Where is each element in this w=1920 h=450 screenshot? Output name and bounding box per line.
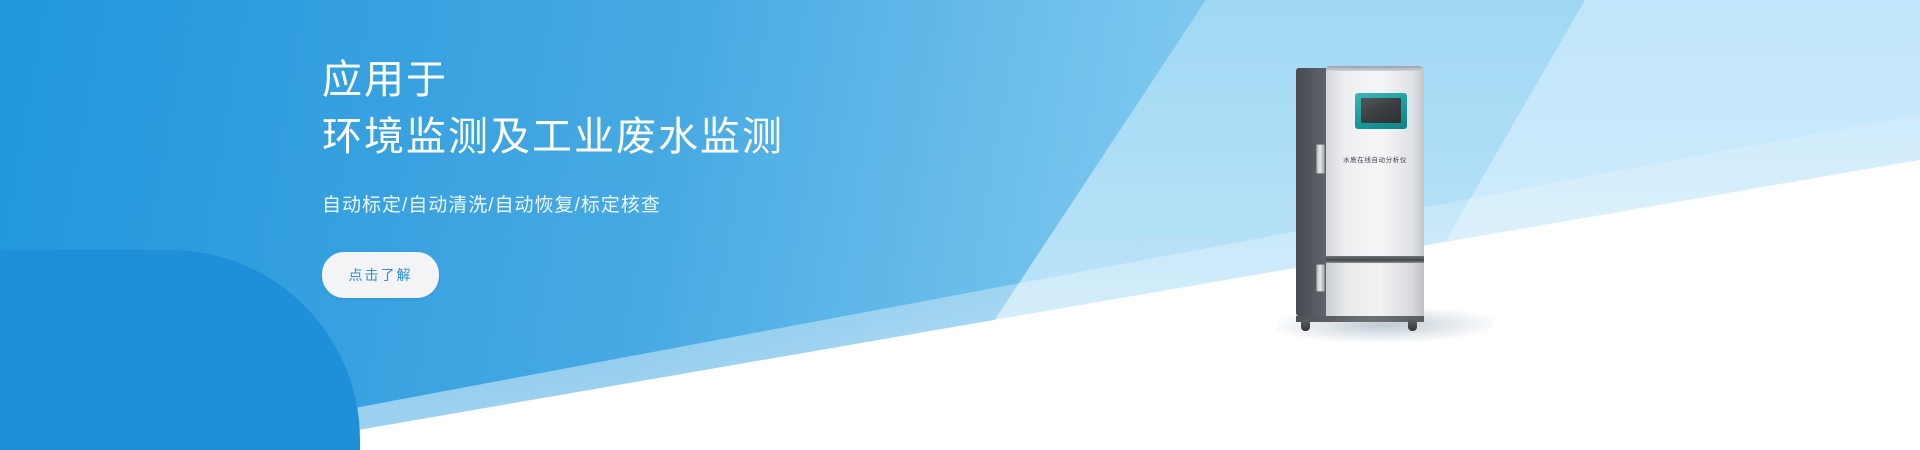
subheadline: 自动标定/自动清洗/自动恢复/标定核查	[322, 192, 942, 221]
device-lower-door-handle	[1316, 264, 1325, 292]
headline-line-1: 应用于	[322, 52, 942, 109]
device-castor-right	[1408, 320, 1417, 331]
hero-copy: 应用于 环境监测及工业废水监测 自动标定/自动清洗/自动恢复/标定核查 点击了解	[322, 52, 942, 298]
device-castor-left	[1301, 320, 1310, 331]
device-top-edge	[1326, 66, 1424, 71]
device-base-plinth	[1296, 316, 1424, 322]
device-compartment-divider	[1326, 256, 1424, 263]
hero-banner: 应用于 环境监测及工业废水监测 自动标定/自动清洗/自动恢复/标定核查 点击了解…	[0, 0, 1920, 450]
headline-line-2: 环境监测及工业废水监测	[322, 109, 942, 166]
learn-more-button[interactable]: 点击了解	[322, 252, 439, 298]
device-lower-compartment	[1326, 263, 1424, 318]
device-front-label: 水质在线自动分析仪	[1326, 154, 1424, 164]
analyzer-device-image: 水质在线自动分析仪	[1296, 58, 1476, 328]
device-display-screen	[1361, 98, 1401, 123]
device-upper-door-handle	[1316, 144, 1325, 174]
